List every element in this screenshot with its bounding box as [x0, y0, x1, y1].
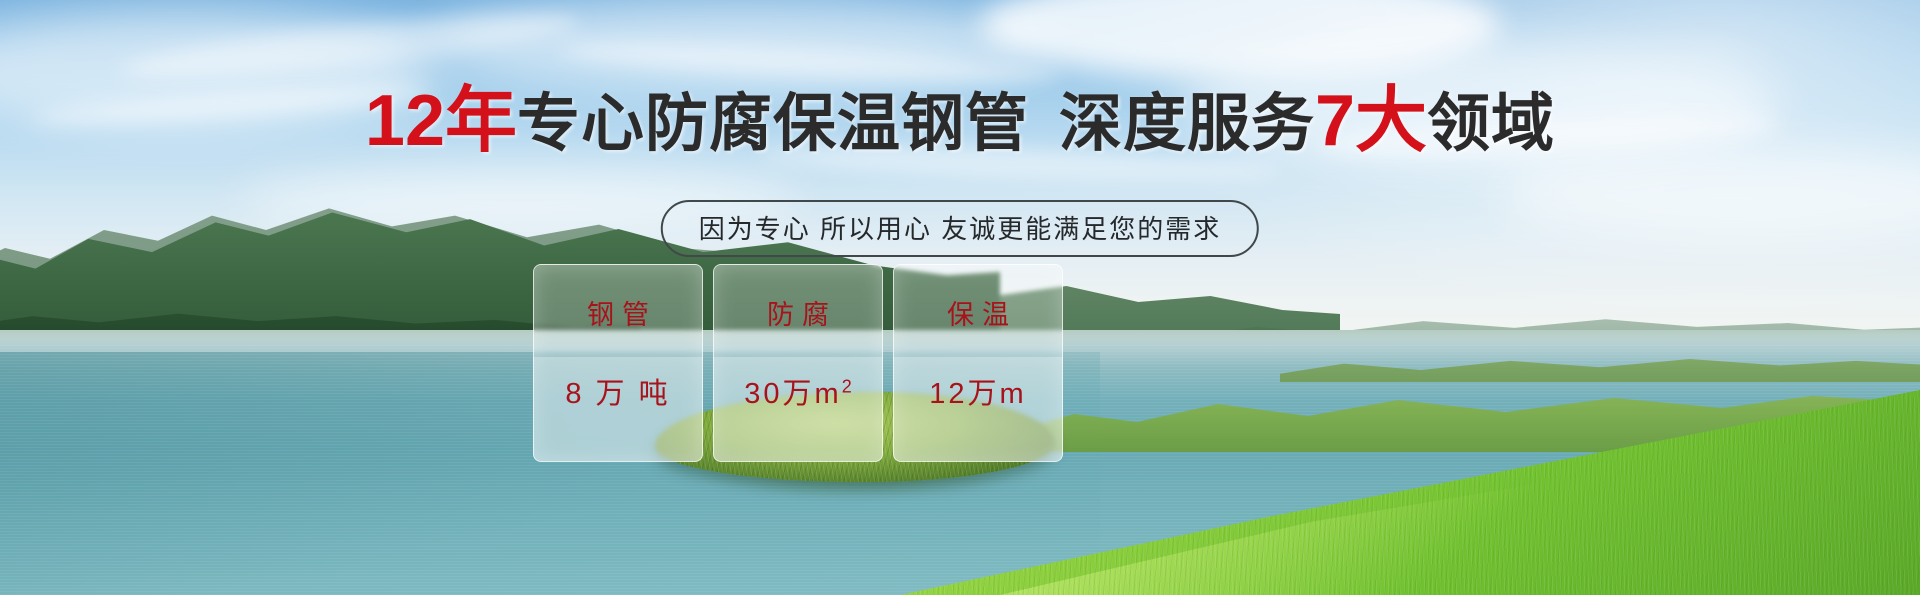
banner-subtitle-pill: 因为专心 所以用心 友诚更能满足您的需求	[661, 200, 1259, 257]
stat-card-value-text: 30万m	[744, 378, 841, 410]
stat-card-value: 30万m2	[744, 370, 851, 412]
stat-card-anticorrosion[interactable]: 防腐 30万m2	[713, 264, 883, 462]
stat-card-group: 钢管 8 万 吨 防腐 30万m2 保温 12万m	[533, 264, 1063, 462]
banner-headline: 12年专心防腐保温钢管深度服务7大领域	[0, 84, 1920, 160]
headline-main: 专心防腐保温钢管	[517, 89, 1029, 159]
stat-card-title: 防腐	[759, 293, 837, 332]
stat-card-value-text: 12万m	[929, 378, 1026, 410]
promo-banner: 12年专心防腐保温钢管深度服务7大领域 因为专心 所以用心 友诚更能满足您的需求…	[0, 0, 1920, 595]
stat-card-value: 8 万 吨	[565, 370, 670, 412]
stat-card-value: 12万m	[929, 370, 1026, 412]
headline-fields: 领域	[1427, 89, 1555, 159]
stat-card-steel-pipe[interactable]: 钢管 8 万 吨	[533, 264, 703, 462]
stat-card-value-text: 8 万 吨	[565, 378, 670, 410]
stat-card-value-superscript: 2	[842, 376, 852, 396]
stat-card-insulation[interactable]: 保温 12万m	[893, 264, 1063, 462]
headline-seven: 7大	[1315, 81, 1427, 161]
stat-card-title: 保温	[939, 293, 1017, 332]
stat-card-title: 钢管	[579, 293, 657, 332]
headline-service: 深度服务	[1059, 89, 1315, 159]
headline-years: 12年	[365, 81, 517, 161]
